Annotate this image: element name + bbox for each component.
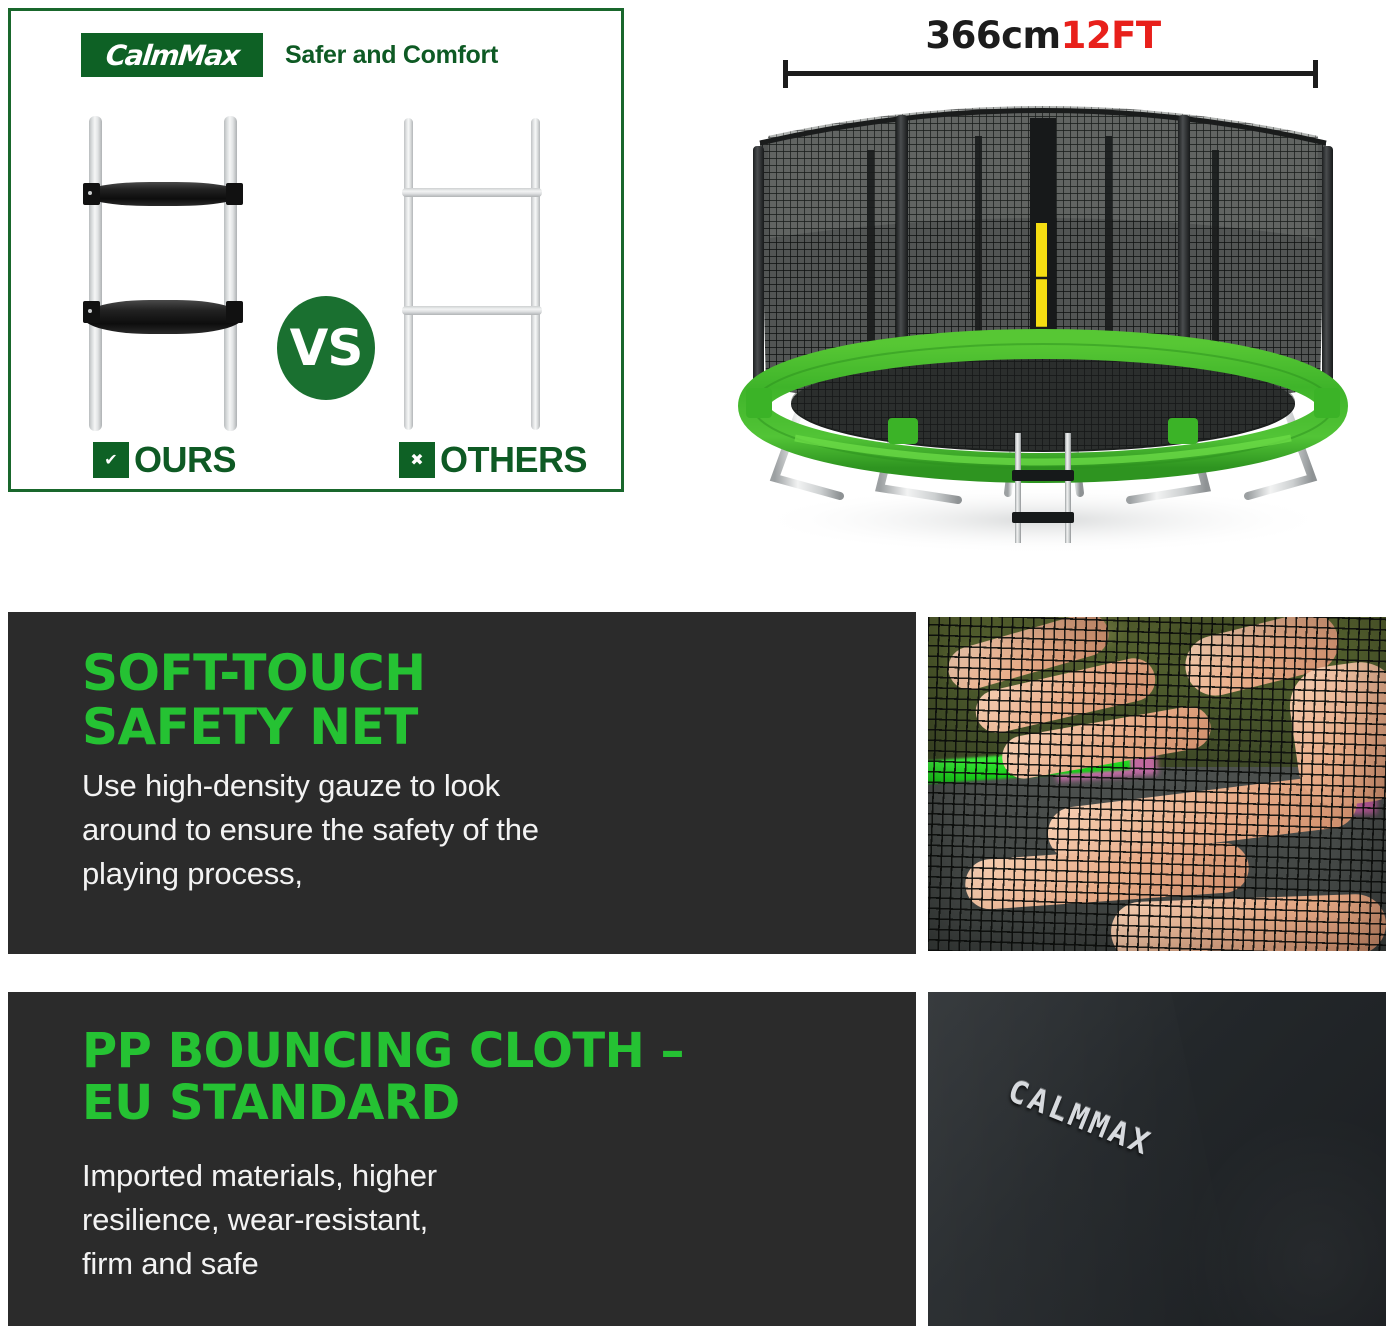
feature-row-bouncing-cloth: PP BOUNCING CLOTH – EU STANDARD Imported…	[0, 992, 1386, 1326]
feature-description: Imported materials, higher resilience, w…	[82, 1154, 602, 1286]
comparison-header: CalmMax Safer and Comfort	[81, 33, 498, 77]
measure-line	[783, 71, 1318, 76]
feature-title: PP BOUNCING CLOTH – EU STANDARD	[82, 1026, 684, 1130]
net-photo-illustration	[928, 617, 1386, 951]
padded-step	[83, 182, 243, 206]
padded-step	[83, 300, 243, 334]
dimension-cm: 366cm	[925, 14, 1060, 57]
others-ladder-graphic	[404, 118, 540, 430]
logo-label: CalmMax	[104, 39, 240, 72]
calmmax-logo: CalmMax	[81, 33, 263, 77]
ladder-comparison-illustration: VS	[11, 106, 621, 436]
ours-ladder-graphic	[89, 116, 237, 431]
thin-rung	[402, 188, 542, 197]
cross-icon: ✖	[399, 442, 435, 478]
comparison-card: CalmMax Safer and Comfort VS	[8, 8, 624, 492]
verdict-ours-label: OURS	[134, 439, 236, 481]
measure-endcap-right	[1313, 60, 1318, 88]
ladder-rail-left	[89, 116, 102, 431]
verdict-others-label: OTHERS	[440, 439, 587, 481]
feature-photo-safety-net	[928, 617, 1386, 951]
check-icon: ✔	[93, 442, 129, 478]
mat-photo-illustration: CALMMAX	[928, 992, 1386, 1326]
feature-text-panel: PP BOUNCING CLOTH – EU STANDARD Imported…	[8, 992, 916, 1326]
thin-rung	[402, 306, 542, 315]
product-dimension-block: 366cm12FT	[700, 0, 1386, 575]
top-section: CalmMax Safer and Comfort VS	[0, 0, 1386, 580]
feature-text-panel: SOFT-TOUCH SAFETY NET Use high-density g…	[8, 612, 916, 954]
feature-title: SOFT-TOUCH SAFETY NET	[82, 646, 426, 754]
vs-label: VS	[290, 319, 363, 377]
trampoline-illustration	[720, 88, 1366, 558]
ladder-rail-right	[531, 118, 540, 430]
verdict-others: ✖ OTHERS	[399, 439, 587, 481]
feature-photo-jumping-mat: CALMMAX	[928, 992, 1386, 1326]
feature-row-safety-net: SOFT-TOUCH SAFETY NET Use high-density g…	[0, 612, 1386, 954]
feature-description: Use high-density gauze to look around to…	[82, 764, 642, 896]
dimension-label: 366cm12FT	[700, 14, 1386, 57]
comparison-tagline: Safer and Comfort	[285, 41, 498, 70]
dimension-measure-bar	[783, 60, 1318, 88]
ladder-rail-left	[404, 118, 413, 430]
verdict-labels: ✔ OURS ✖ OTHERS	[11, 439, 621, 493]
vs-badge: VS	[277, 296, 375, 400]
verdict-ours: ✔ OURS	[93, 439, 236, 481]
ladder-rail-right	[224, 116, 237, 431]
dimension-ft: 12FT	[1061, 14, 1161, 57]
